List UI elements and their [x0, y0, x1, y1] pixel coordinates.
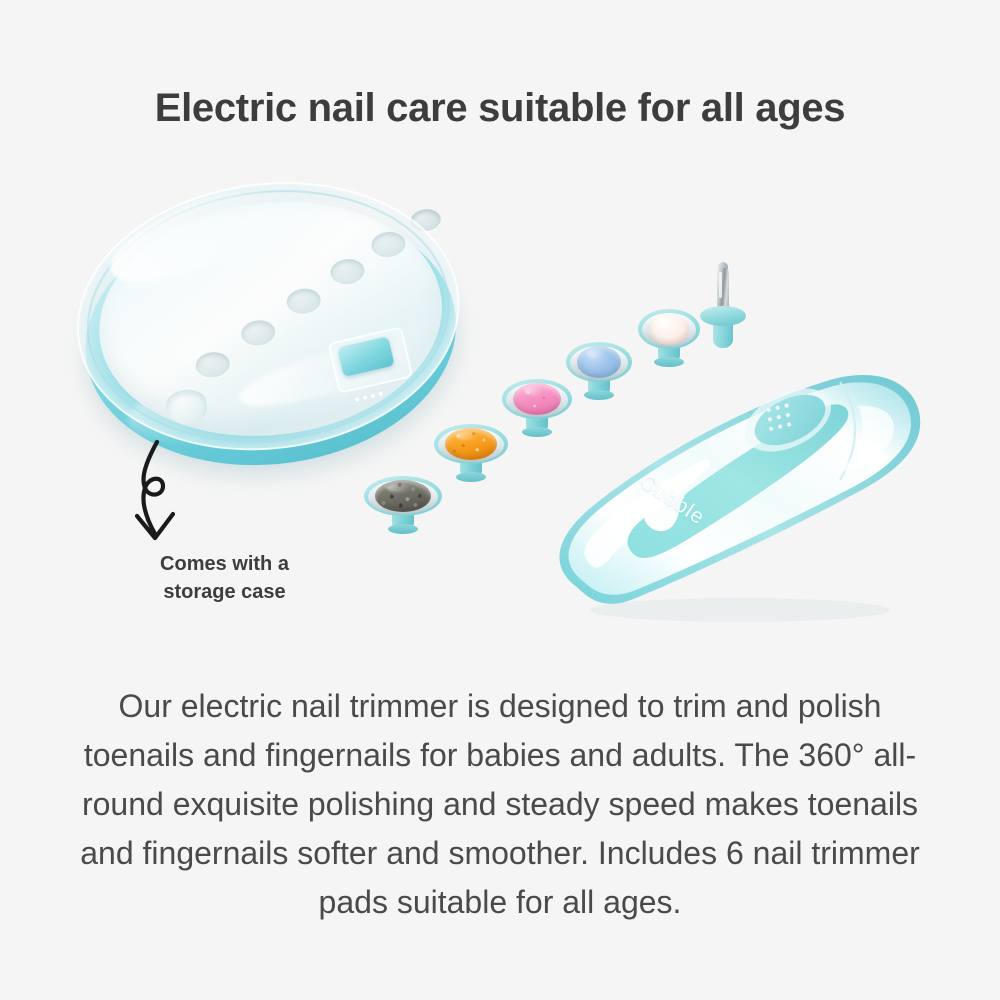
callout-line-2: storage case	[92, 578, 357, 606]
product-image-stage: Electric nail care suitable for all ages	[0, 0, 1000, 1000]
attachment-grit-surface	[445, 428, 497, 460]
attachment-cup	[638, 309, 700, 349]
attachment-cup	[434, 424, 508, 464]
attachment-metal-ring	[438, 428, 504, 462]
attachment-gloss	[658, 317, 674, 325]
attachment-buff-surface	[649, 313, 689, 345]
nail-trimmer-device: Cubble	[540, 360, 940, 630]
attachment-coarse-grit-pad	[364, 470, 442, 546]
attachment-metal-ring	[642, 313, 696, 347]
attachment-metal-bur-tip	[700, 290, 746, 360]
callout-arrow	[115, 438, 225, 558]
bur-collar	[700, 306, 746, 326]
attachment-cream-buff-pad	[638, 303, 700, 363]
curved-loop-arrow-icon	[115, 438, 225, 558]
attachment-gloss	[456, 432, 477, 440]
callout-line-1: Comes with a	[92, 550, 357, 578]
trimmer-body	[540, 360, 940, 630]
attachment-gloss	[387, 484, 409, 492]
attachment-cup	[364, 476, 442, 516]
page-title: Electric nail care suitable for all ages	[0, 86, 1000, 131]
attachment-grit-surface	[375, 480, 431, 512]
attachment-metal-ring	[368, 480, 438, 514]
product-description: Our electric nail trimmer is designed to…	[60, 682, 940, 927]
bur-shaft	[717, 268, 729, 310]
case-lid	[61, 161, 475, 472]
callout-text: Comes with a storage case	[92, 550, 357, 606]
attachment-gloss	[587, 350, 605, 358]
attachment-orange-grit-pad	[434, 418, 508, 490]
